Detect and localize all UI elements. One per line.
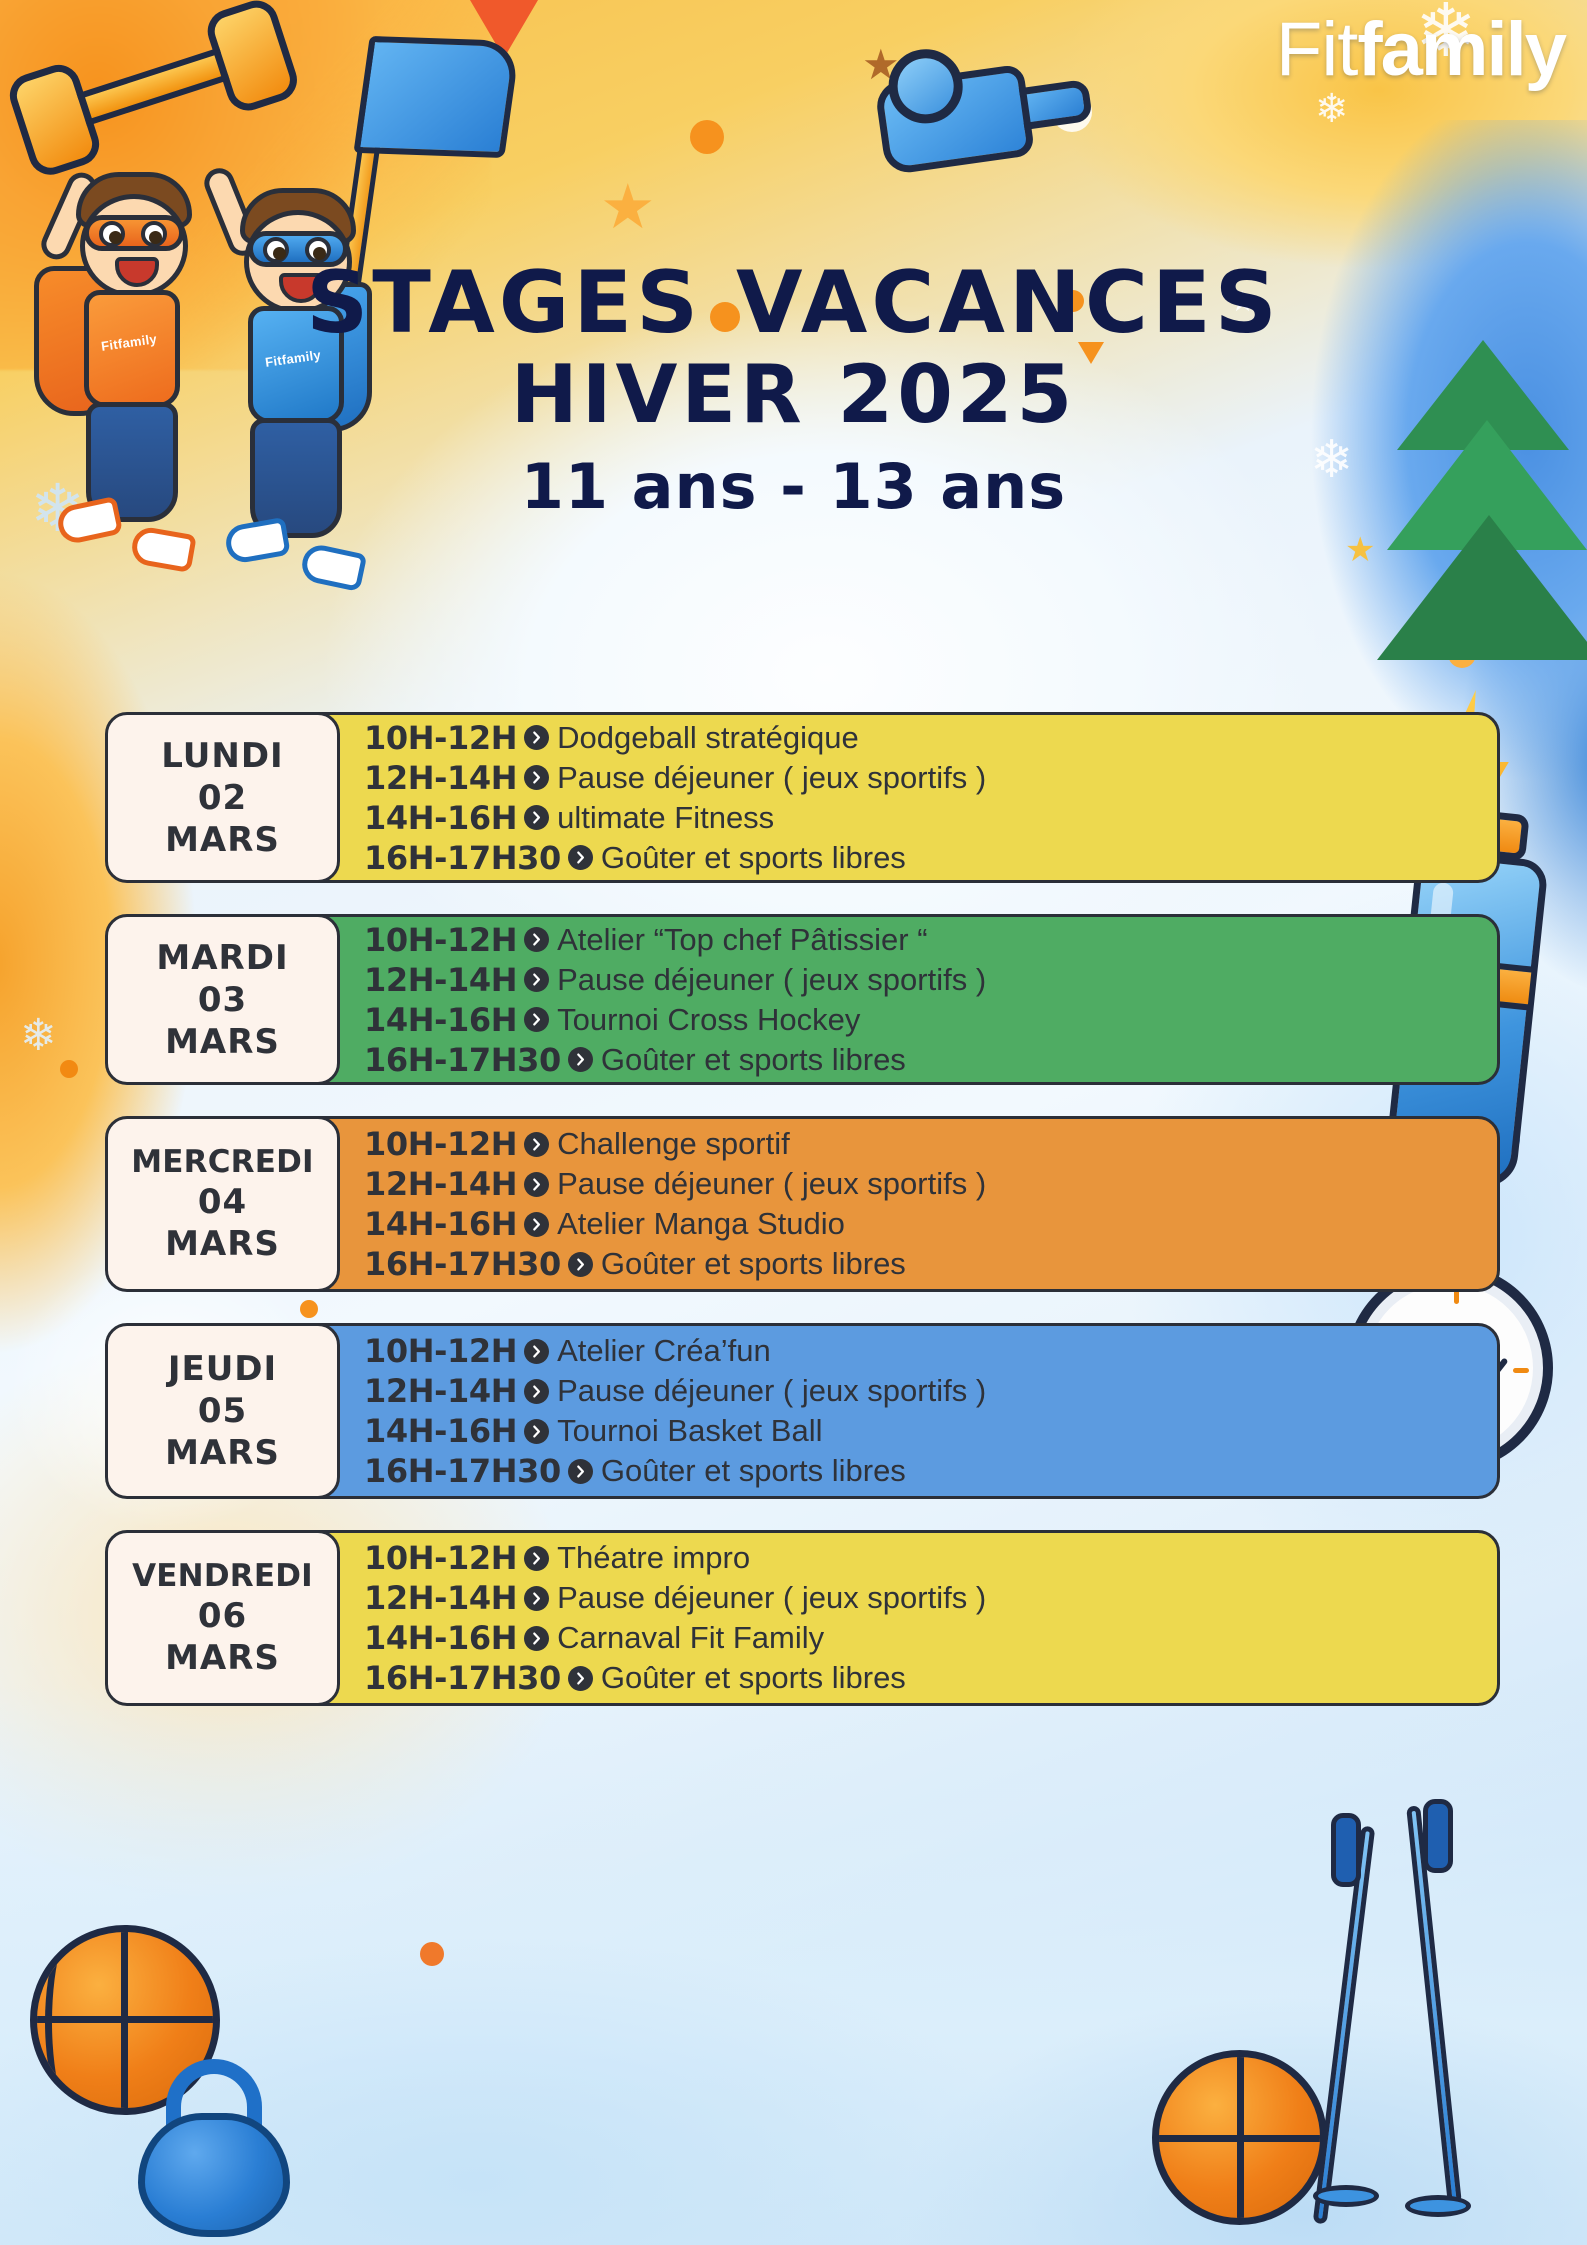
slot-time: 16H-17H30 — [364, 1041, 561, 1079]
star-icon: ★ — [1345, 530, 1375, 570]
whistle-icon — [870, 25, 1120, 215]
slot-activity: Pause déjeuner ( jeux sportifs ) — [557, 1166, 986, 1202]
chevron-right-icon — [524, 1212, 549, 1237]
day-month: MARS — [165, 1638, 280, 1678]
chevron-right-icon — [524, 967, 549, 992]
schedule-slot: 10H-12HDodgeball stratégique — [364, 719, 1482, 757]
slot-time: 12H-14H — [364, 1372, 517, 1410]
slot-time: 16H-17H30 — [364, 1245, 561, 1283]
slot-activity: Pause déjeuner ( jeux sportifs ) — [557, 1373, 986, 1409]
schedule-slot: 12H-14HPause déjeuner ( jeux sportifs ) — [364, 759, 1482, 797]
slot-activity: Pause déjeuner ( jeux sportifs ) — [557, 760, 986, 796]
chevron-right-icon — [524, 805, 549, 830]
schedule-slot: 16H-17H30Goûter et sports libres — [364, 1452, 1482, 1490]
slot-activity: Tournoi Cross Hockey — [557, 1002, 860, 1038]
chevron-right-icon — [524, 1546, 549, 1571]
slot-list: 10H-12HAtelier Créa’fun12H-14HPause déje… — [340, 1323, 1500, 1499]
schedule-slot: 14H-16HCarnaval Fit Family — [364, 1619, 1482, 1657]
slot-activity: Goûter et sports libres — [601, 840, 906, 876]
chevron-right-icon — [524, 725, 549, 750]
schedule-slot: 14H-16HAtelier Manga Studio — [364, 1205, 1482, 1243]
chevron-right-icon — [524, 765, 549, 790]
kettlebell-icon — [120, 2055, 310, 2245]
title-line-2: HIVER 2025 — [0, 349, 1587, 440]
slot-activity: Atelier Manga Studio — [557, 1206, 845, 1242]
chevron-right-icon — [524, 1419, 549, 1444]
schedule-row: MARDI03MARS10H-12HAtelier “Top chef Pâti… — [105, 914, 1500, 1085]
day-month: MARS — [165, 820, 280, 860]
schedule-slot: 12H-14HPause déjeuner ( jeux sportifs ) — [364, 1579, 1482, 1617]
day-box: JEUDI05MARS — [105, 1323, 340, 1499]
slot-time: 16H-17H30 — [364, 839, 561, 877]
slot-activity: Carnaval Fit Family — [557, 1620, 824, 1656]
slot-list: 10H-12HDodgeball stratégique12H-14HPause… — [340, 712, 1500, 883]
brand-logo-part2: family — [1357, 7, 1565, 92]
slot-time: 16H-17H30 — [364, 1452, 561, 1490]
snowflake-icon: ❄ — [20, 1010, 57, 1061]
schedule-slot: 12H-14HPause déjeuner ( jeux sportifs ) — [364, 1165, 1482, 1203]
schedule-slot: 14H-16HTournoi Cross Hockey — [364, 1001, 1482, 1039]
slot-time: 14H-16H — [364, 1619, 517, 1657]
schedule-slot: 10H-12HThéatre impro — [364, 1539, 1482, 1577]
slot-time: 12H-14H — [364, 1579, 517, 1617]
day-name: MERCREDI — [131, 1144, 314, 1180]
slot-time: 14H-16H — [364, 799, 517, 837]
schedule-row: LUNDI02MARS10H-12HDodgeball stratégique1… — [105, 712, 1500, 883]
chevron-right-icon — [524, 1379, 549, 1404]
chevron-right-icon — [524, 1339, 549, 1364]
day-month: MARS — [165, 1022, 280, 1062]
slot-activity: Pause déjeuner ( jeux sportifs ) — [557, 1580, 986, 1616]
slot-time: 14H-16H — [364, 1001, 517, 1039]
chevron-right-icon — [524, 1132, 549, 1157]
slot-list: 10H-12HAtelier “Top chef Pâtissier “12H-… — [340, 914, 1500, 1085]
snowflake-icon: ❄ — [1315, 86, 1349, 132]
brand-logo-part1: Fit — [1276, 7, 1357, 92]
slot-time: 14H-16H — [364, 1412, 517, 1450]
slot-activity: Challenge sportif — [557, 1126, 790, 1162]
day-number: 02 — [198, 778, 247, 818]
chevron-right-icon — [524, 1626, 549, 1651]
slot-activity: ultimate Fitness — [557, 800, 774, 836]
slot-activity: Pause déjeuner ( jeux sportifs ) — [557, 962, 986, 998]
day-month: MARS — [165, 1224, 280, 1264]
day-box: VENDREDI06MARS — [105, 1530, 340, 1706]
chevron-right-icon — [524, 927, 549, 952]
day-month: MARS — [165, 1433, 280, 1473]
chevron-right-icon — [524, 1007, 549, 1032]
slot-activity: Tournoi Basket Ball — [557, 1413, 822, 1449]
schedule-slot: 16H-17H30Goûter et sports libres — [364, 1245, 1482, 1283]
star-icon: ★ — [600, 170, 656, 243]
schedule-slot: 10H-12HAtelier “Top chef Pâtissier “ — [364, 921, 1482, 959]
schedule-slot: 16H-17H30Goûter et sports libres — [364, 839, 1482, 877]
schedule-slot: 10H-12HChallenge sportif — [364, 1125, 1482, 1163]
day-name: LUNDI — [161, 736, 283, 776]
slot-activity: Dodgeball stratégique — [557, 720, 859, 756]
slot-activity: Goûter et sports libres — [601, 1042, 906, 1078]
schedule-slot: 10H-12HAtelier Créa’fun — [364, 1332, 1482, 1370]
slot-activity: Théatre impro — [557, 1540, 750, 1576]
slot-list: 10H-12HChallenge sportif12H-14HPause déj… — [340, 1116, 1500, 1292]
slot-time: 10H-12H — [364, 1332, 517, 1370]
day-number: 04 — [198, 1182, 247, 1222]
slot-time: 10H-12H — [364, 1539, 517, 1577]
slot-time: 10H-12H — [364, 719, 517, 757]
chevron-right-icon — [524, 1172, 549, 1197]
schedule-row: JEUDI05MARS10H-12HAtelier Créa’fun12H-14… — [105, 1323, 1500, 1499]
day-box: LUNDI02MARS — [105, 712, 340, 883]
confetti-dot — [420, 1942, 444, 1966]
slot-activity: Goûter et sports libres — [601, 1246, 906, 1282]
day-box: MARDI03MARS — [105, 914, 340, 1085]
slot-list: 10H-12HThéatre impro12H-14HPause déjeune… — [340, 1530, 1500, 1706]
ski-poles-icon — [1297, 1805, 1527, 2245]
chevron-right-icon — [568, 1047, 593, 1072]
chevron-right-icon — [568, 845, 593, 870]
slot-time: 10H-12H — [364, 1125, 517, 1163]
slot-activity: Atelier “Top chef Pâtissier “ — [557, 922, 927, 958]
schedule-row: MERCREDI04MARS10H-12HChallenge sportif12… — [105, 1116, 1500, 1292]
confetti-dot — [690, 120, 724, 154]
slot-time: 10H-12H — [364, 921, 517, 959]
poster-headings: STAGES VACANCES HIVER 2025 11 ans - 13 a… — [0, 258, 1587, 533]
schedule-slot: 16H-17H30Goûter et sports libres — [364, 1659, 1482, 1697]
brand-logo: Fitfamily — [1276, 12, 1565, 88]
schedule-row: VENDREDI06MARS10H-12HThéatre impro12H-14… — [105, 1530, 1500, 1706]
confetti-dot — [60, 1060, 78, 1078]
day-box: MERCREDI04MARS — [105, 1116, 340, 1292]
day-number: 06 — [198, 1596, 247, 1636]
poster: ★ ★ ★ ★ ★ ❄ ❄ ❄ ❄ ❄ — [0, 0, 1587, 2245]
schedule-slot: 12H-14HPause déjeuner ( jeux sportifs ) — [364, 1372, 1482, 1410]
day-number: 03 — [198, 980, 247, 1020]
chevron-right-icon — [568, 1252, 593, 1277]
slot-activity: Goûter et sports libres — [601, 1453, 906, 1489]
day-name: JEUDI — [168, 1349, 277, 1389]
day-name: MARDI — [156, 938, 288, 978]
chevron-right-icon — [568, 1459, 593, 1484]
schedule-slot: 14H-16HTournoi Basket Ball — [364, 1412, 1482, 1450]
schedule-table: LUNDI02MARS10H-12HDodgeball stratégique1… — [105, 712, 1500, 1737]
age-range: 11 ans - 13 ans — [0, 440, 1587, 533]
schedule-slot: 16H-17H30Goûter et sports libres — [364, 1041, 1482, 1079]
chevron-right-icon — [524, 1586, 549, 1611]
slot-activity: Atelier Créa’fun — [557, 1333, 771, 1369]
slot-time: 12H-14H — [364, 1165, 517, 1203]
slot-time: 12H-14H — [364, 759, 517, 797]
title-line-1: STAGES VACANCES — [0, 258, 1587, 349]
slot-time: 14H-16H — [364, 1205, 517, 1243]
day-number: 05 — [198, 1391, 247, 1431]
schedule-slot: 14H-16Hultimate Fitness — [364, 799, 1482, 837]
slot-activity: Goûter et sports libres — [601, 1660, 906, 1696]
chevron-right-icon — [568, 1666, 593, 1691]
slot-time: 12H-14H — [364, 961, 517, 999]
day-name: VENDREDI — [132, 1558, 313, 1594]
slot-time: 16H-17H30 — [364, 1659, 561, 1697]
schedule-slot: 12H-14HPause déjeuner ( jeux sportifs ) — [364, 961, 1482, 999]
